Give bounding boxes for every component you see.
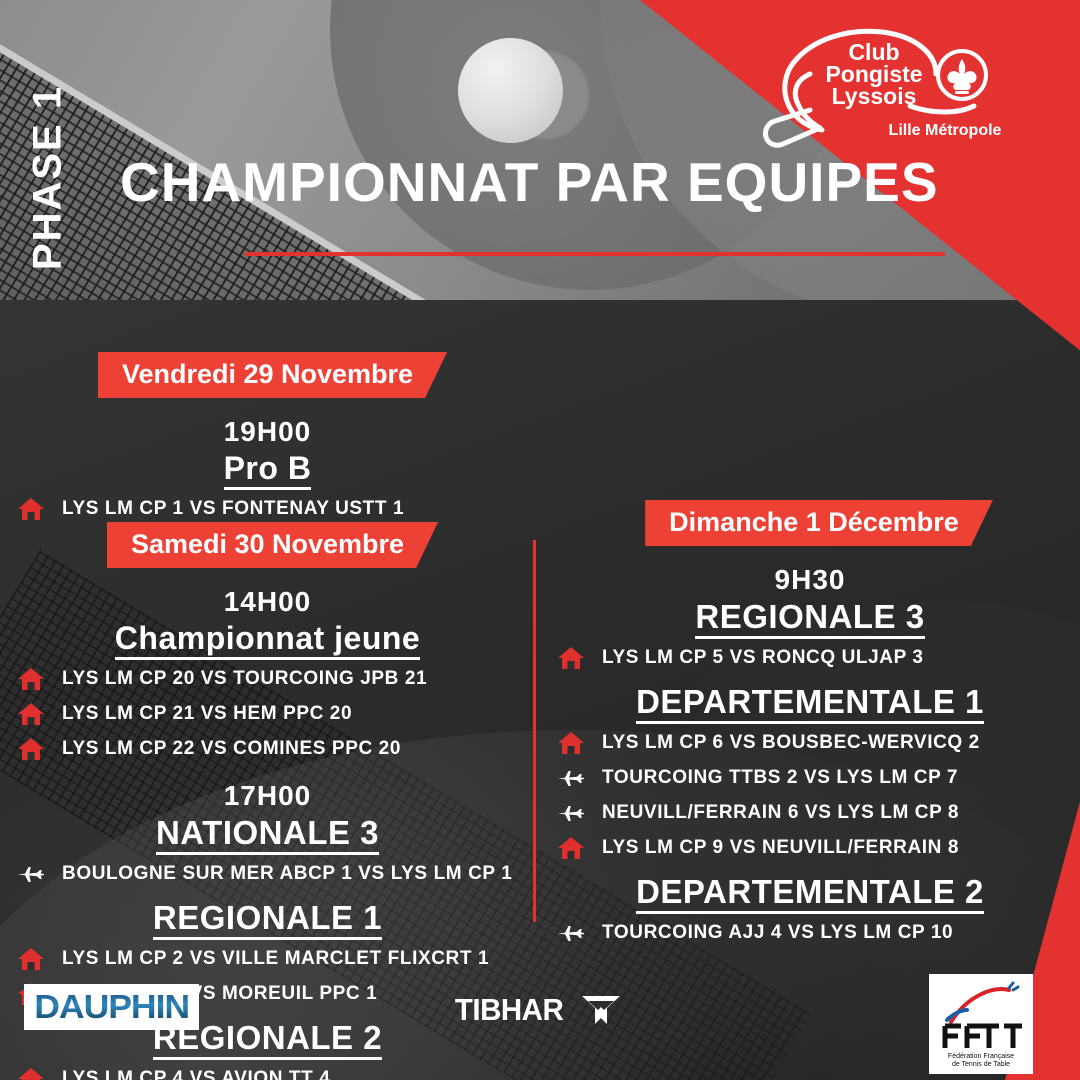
airplane-icon <box>556 921 586 945</box>
club-logo-svg: Club Pongiste Lyssois Lille Métropole <box>750 18 1020 148</box>
match-row[interactable]: LYS LM CP 21 VS HEM PPC 20 <box>0 701 535 727</box>
date-banner-row: Dimanche 1 Décembre <box>540 500 1080 546</box>
match-row[interactable]: LYS LM CP 1 VS FONTENAY USTT 1 <box>0 496 535 522</box>
match-row[interactable]: LYS LM CP 20 VS TOURCOING JPB 21 <box>0 666 535 692</box>
fftt-logo-svg: Fédération Française de Tennis de Table <box>933 978 1029 1070</box>
sponsor-bar: DAUPHIN TIBHAR Fédération Française <box>0 970 1080 1080</box>
date-banner[interactable]: Dimanche 1 Décembre <box>645 500 993 546</box>
match-label: LYS LM CP 6 VS BOUSBEC-WERVICQ 2 <box>602 732 980 754</box>
sponsor-tibhar-label: TIBHAR <box>455 992 563 1028</box>
home-venue-icon <box>14 496 48 522</box>
page-title: CHAMPIONNAT PAR EQUIPES <box>120 150 1000 214</box>
fftt-sub-2: de Tennis de Table <box>952 1061 1010 1068</box>
home-venue-icon <box>554 645 588 671</box>
match-row[interactable]: TOURCOING AJJ 4 VS LYS LM CP 10 <box>540 920 1080 946</box>
tibhar-chevron-icon <box>580 993 622 1027</box>
fftt-sub-1: Fédération Française <box>948 1053 1014 1060</box>
sponsor-fftt[interactable]: Fédération Française de Tennis de Table <box>929 974 1033 1074</box>
house-icon <box>17 667 45 691</box>
match-time: 14H00 <box>0 586 535 618</box>
match-time: 17H00 <box>0 780 535 812</box>
division-group: 9H30REGIONALE 3LYS LM CP 5 VS RONCQ ULJA… <box>540 564 1080 671</box>
house-icon <box>17 702 45 726</box>
division-title-text: Championnat jeune <box>115 620 420 660</box>
club-logo: Club Pongiste Lyssois Lille Métropole <box>750 18 1020 148</box>
date-banner-row: Vendredi 29 Novembre <box>0 352 535 398</box>
match-row[interactable]: TOURCOING TTBS 2 VS LYS LM CP 7 <box>540 765 1080 791</box>
match-row[interactable]: LYS LM CP 9 VS NEUVILL/FERRAIN 8 <box>540 835 1080 861</box>
house-icon <box>557 836 585 860</box>
match-row[interactable]: LYS LM CP 5 VS RONCQ ULJAP 3 <box>540 645 1080 671</box>
poster-canvas: PHASE 1 CHAMPIONNAT PAR EQUIPES Club Pon… <box>0 0 1080 1080</box>
airplane-icon <box>16 862 46 886</box>
match-row[interactable]: BOULOGNE SUR MER ABCP 1 VS LYS LM CP 1 <box>0 861 535 887</box>
match-row[interactable]: LYS LM CP 2 VS VILLE MARCLET FLIXCRT 1 <box>0 946 535 972</box>
division-title: REGIONALE 3 <box>540 598 1080 636</box>
house-icon <box>557 731 585 755</box>
home-venue-icon <box>14 736 48 762</box>
home-venue-icon <box>14 946 48 972</box>
match-label: TOURCOING TTBS 2 VS LYS LM CP 7 <box>602 767 958 789</box>
division-group: DEPARTEMENTALE 2TOURCOING AJJ 4 VS LYS L… <box>540 873 1080 946</box>
date-banner[interactable]: Vendredi 29 Novembre <box>98 352 447 398</box>
home-venue-icon <box>554 835 588 861</box>
date-banner-row: Samedi 30 Novembre <box>0 522 535 568</box>
division-title: Championnat jeune <box>0 620 535 657</box>
division-title-text: NATIONALE 3 <box>156 814 379 855</box>
match-label: LYS LM CP 20 VS TOURCOING JPB 21 <box>62 668 427 690</box>
phase-label: PHASE 1 <box>26 38 71 318</box>
away-venue-icon <box>14 861 48 887</box>
division-title-text: DEPARTEMENTALE 1 <box>636 683 984 724</box>
logo-line-3: Lyssois <box>832 83 917 109</box>
schedule-column-right: Dimanche 1 Décembre9H30REGIONALE 3LYS LM… <box>540 500 1080 946</box>
division-group: 19H00Pro B LYS LM CP 1 VS FONTENAY USTT … <box>0 416 535 522</box>
division-group: DEPARTEMENTALE 1LYS LM CP 6 VS BOUSBEC-W… <box>540 683 1080 861</box>
division-group: 14H00Championnat jeuneLYS LM CP 20 VS TO… <box>0 586 535 762</box>
airplane-icon <box>556 801 586 825</box>
house-icon <box>17 497 45 521</box>
match-row[interactable]: NEUVILL/FERRAIN 6 VS LYS LM CP 8 <box>540 800 1080 826</box>
match-label: LYS LM CP 1 VS FONTENAY USTT 1 <box>62 498 404 520</box>
match-time: 9H30 <box>540 564 1080 596</box>
house-icon <box>557 646 585 670</box>
fleur-de-lis-icon <box>947 59 976 94</box>
division-title-text: REGIONALE 1 <box>153 899 382 940</box>
match-label: BOULOGNE SUR MER ABCP 1 VS LYS LM CP 1 <box>62 863 512 885</box>
match-label: NEUVILL/FERRAIN 6 VS LYS LM CP 8 <box>602 802 959 824</box>
home-venue-icon <box>554 730 588 756</box>
away-venue-icon <box>554 765 588 791</box>
sponsor-dauphin[interactable]: DAUPHIN <box>24 984 199 1030</box>
ping-pong-ball-image <box>458 38 563 143</box>
division-group: 17H00NATIONALE 3BOULOGNE SUR MER ABCP 1 … <box>0 780 535 887</box>
sponsor-tibhar[interactable]: TIBHAR <box>452 992 622 1028</box>
match-label: LYS LM CP 5 VS RONCQ ULJAP 3 <box>602 647 924 669</box>
away-venue-icon <box>554 800 588 826</box>
match-label: LYS LM CP 9 VS NEUVILL/FERRAIN 8 <box>602 837 959 859</box>
match-label: LYS LM CP 21 VS HEM PPC 20 <box>62 703 352 725</box>
match-row[interactable]: LYS LM CP 22 VS COMINES PPC 20 <box>0 736 535 762</box>
division-title-text: REGIONALE 3 <box>695 598 924 639</box>
home-venue-icon <box>14 666 48 692</box>
match-label: LYS LM CP 22 VS COMINES PPC 20 <box>62 738 401 760</box>
date-banner[interactable]: Samedi 30 Novembre <box>107 522 438 568</box>
division-title: NATIONALE 3 <box>0 814 535 852</box>
division-title: Pro B <box>0 450 535 487</box>
home-venue-icon <box>14 701 48 727</box>
house-icon <box>17 947 45 971</box>
logo-tagline: Lille Métropole <box>889 122 1002 139</box>
match-time: 19H00 <box>0 416 535 448</box>
division-title-text: DEPARTEMENTALE 2 <box>636 873 984 914</box>
away-venue-icon <box>554 920 588 946</box>
division-title: DEPARTEMENTALE 2 <box>540 873 1080 911</box>
match-label: TOURCOING AJJ 4 VS LYS LM CP 10 <box>602 922 953 944</box>
division-title-text: Pro B <box>224 450 312 490</box>
match-label: LYS LM CP 2 VS VILLE MARCLET FLIXCRT 1 <box>62 948 489 970</box>
match-row[interactable]: LYS LM CP 6 VS BOUSBEC-WERVICQ 2 <box>540 730 1080 756</box>
division-title: DEPARTEMENTALE 1 <box>540 683 1080 721</box>
division-title: REGIONALE 1 <box>0 899 535 937</box>
title-underline-rule <box>245 252 945 256</box>
sponsor-dauphin-label: DAUPHIN <box>34 988 189 1026</box>
airplane-icon <box>556 766 586 790</box>
house-icon <box>17 737 45 761</box>
